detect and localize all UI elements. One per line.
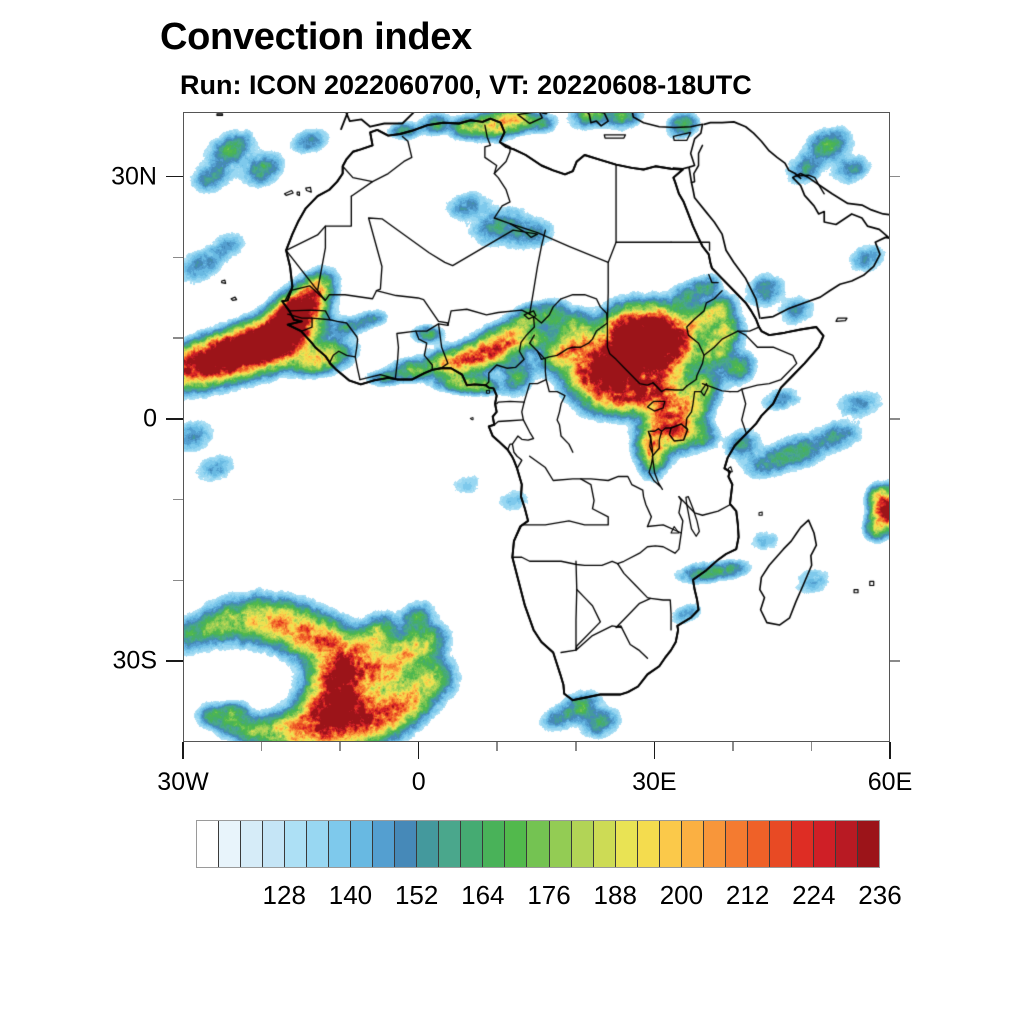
colorbar-cell (505, 821, 527, 867)
x-minor-tick (732, 742, 734, 751)
colorbar-cell (329, 821, 351, 867)
y-major-tick (166, 176, 183, 178)
y-minor-tick (173, 337, 183, 339)
x-major-tick (889, 742, 891, 759)
y-major-tick (166, 418, 183, 420)
run-validtime-subtitle: Run: ICON 2022060700, VT: 20220608-18UTC (180, 70, 752, 101)
y-major-tick-right (890, 660, 900, 662)
colorbar-cell (527, 821, 549, 867)
colorbar-cell (550, 821, 572, 867)
page-title: Convection index (160, 16, 472, 59)
colorbar-cell (770, 821, 792, 867)
colorbar-cell (704, 821, 726, 867)
colorbar-tick-label: 128 (263, 880, 306, 911)
colorbar-cell (439, 821, 461, 867)
colorbar-tick-label: 212 (726, 880, 769, 911)
x-axis-label: 30E (632, 768, 676, 797)
colorbar-tick-label: 188 (594, 880, 637, 911)
y-minor-tick (173, 499, 183, 501)
colorbar (196, 820, 880, 868)
y-major-tick-right (890, 176, 900, 178)
x-minor-tick (575, 742, 577, 751)
x-axis-label: 30W (157, 768, 208, 797)
colorbar-tick-label: 200 (660, 880, 703, 911)
colorbar-tick-label: 140 (329, 880, 372, 911)
colorbar-cell (461, 821, 483, 867)
colorbar-cell (836, 821, 858, 867)
x-axis-label: 60E (868, 768, 912, 797)
colorbar-tick-label: 176 (527, 880, 570, 911)
colorbar-cell (219, 821, 241, 867)
colorbar-cell (197, 821, 219, 867)
colorbar-cell (682, 821, 704, 867)
colorbar-cell (285, 821, 307, 867)
colorbar-cell (858, 821, 879, 867)
colorbar-cell (351, 821, 373, 867)
colorbar-cell (417, 821, 439, 867)
colorbar-cell (395, 821, 417, 867)
colorbar-cell (748, 821, 770, 867)
x-major-tick (182, 742, 184, 759)
colorbar-cell (616, 821, 638, 867)
colorbar-cells (196, 820, 880, 868)
x-minor-tick (339, 742, 341, 751)
x-major-tick (654, 742, 656, 759)
colorbar-cell (572, 821, 594, 867)
colorbar-cell (792, 821, 814, 867)
y-axis-label: 30N (111, 162, 157, 191)
x-minor-tick (261, 742, 263, 751)
colorbar-cell (263, 821, 285, 867)
colorbar-tick-label: 164 (461, 880, 504, 911)
y-minor-tick (173, 257, 183, 259)
y-minor-tick (173, 580, 183, 582)
colorbar-tick-label: 236 (858, 880, 901, 911)
convection-index-map-figure: Convection index Run: ICON 2022060700, V… (0, 0, 1024, 1024)
colorbar-cell (638, 821, 660, 867)
colorbar-cell (241, 821, 263, 867)
map-plot-area (183, 112, 890, 742)
y-major-tick-right (890, 418, 900, 420)
colorbar-cell (660, 821, 682, 867)
y-axis-label: 0 (143, 404, 157, 433)
colorbar-cell (307, 821, 329, 867)
x-minor-tick (811, 742, 813, 751)
colorbar-tick-label: 224 (792, 880, 835, 911)
colorbar-tick-label: 152 (395, 880, 438, 911)
y-major-tick (166, 660, 183, 662)
x-major-tick (418, 742, 420, 759)
x-axis-label: 0 (412, 768, 426, 797)
x-minor-tick (496, 742, 498, 751)
colorbar-cell (483, 821, 505, 867)
colorbar-cell (373, 821, 395, 867)
convection-index-raster (184, 113, 890, 742)
colorbar-cell (594, 821, 616, 867)
colorbar-cell (814, 821, 836, 867)
colorbar-cell (726, 821, 748, 867)
y-axis-label: 30S (113, 647, 157, 676)
